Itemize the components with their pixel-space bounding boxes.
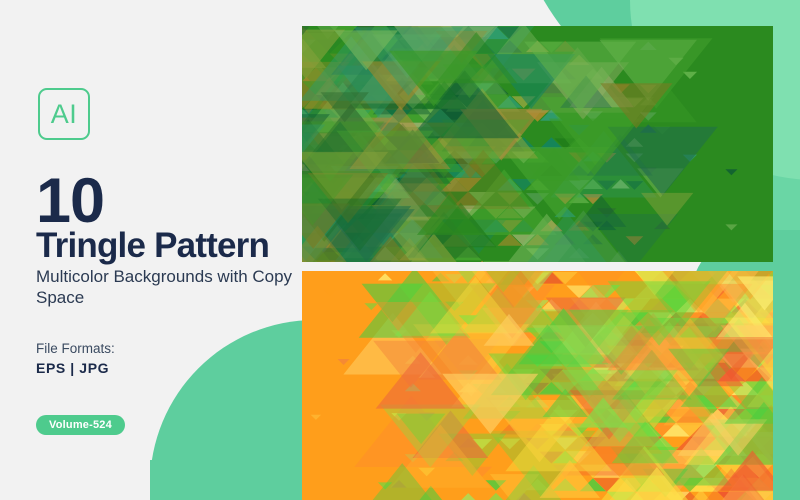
file-formats-label: File Formats: — [36, 341, 115, 356]
volume-badge: Volume-524 — [36, 415, 125, 435]
item-count: 10 — [36, 170, 104, 233]
page-subtitle: Multicolor Backgrounds with Copy Space — [36, 266, 296, 309]
file-formats-value: EPS | JPG — [36, 360, 109, 376]
green-triangle-panel — [302, 26, 773, 262]
orange-triangle-mosaic — [302, 271, 773, 500]
poster-canvas: AI 10 Tringle Pattern Multicolor Backgro… — [0, 0, 800, 500]
page-title: Tringle Pattern — [36, 228, 269, 263]
green-triangle-mosaic — [302, 26, 773, 262]
orange-triangle-panel — [302, 271, 773, 500]
ai-badge-label: AI — [51, 101, 78, 128]
info-column: AI 10 Tringle Pattern Multicolor Backgro… — [0, 0, 300, 500]
ai-format-badge: AI — [38, 88, 90, 140]
